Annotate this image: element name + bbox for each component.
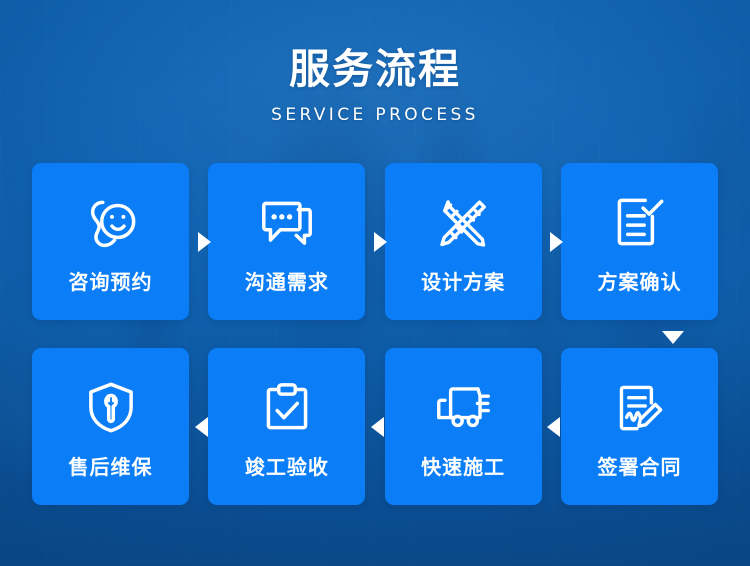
chat-bubbles-icon [251,189,323,255]
process-row-bottom: 售后维保 竣工验收 [32,348,718,505]
page-subtitle: SERVICE PROCESS [0,105,750,126]
clipboard-check-icon [251,374,323,440]
step-card-label: 方案确认 [597,269,681,295]
step-card-label: 快速施工 [421,454,505,480]
service-process-banner: 服务流程 SERVICE PROCESS 咨询预约 [0,0,750,566]
flow-arrow-right-icon [374,232,387,252]
step-card-label: 竣工验收 [245,454,329,480]
step-card-construction[interactable]: 快速施工 [385,348,542,505]
flow-arrow-down-wrapper [662,331,684,344]
step-card-label: 设计方案 [421,269,505,295]
flow-arrow-left-icon [195,417,208,437]
phone-smiley-icon [75,189,147,255]
step-card-label: 沟通需求 [245,269,329,295]
shield-wrench-icon [75,374,147,440]
delivery-truck-icon [427,374,499,440]
pencil-ruler-icon [427,189,499,255]
document-check-icon [603,189,675,255]
process-steps-grid: 咨询预约 沟通需求 [32,163,718,505]
step-card-consultation[interactable]: 咨询预约 [32,163,189,320]
page-title: 服务流程 [0,44,750,94]
flow-arrow-down-icon [662,331,684,344]
step-card-label: 咨询预约 [69,269,153,295]
step-card-communication[interactable]: 沟通需求 [208,163,365,320]
flow-arrow-left-icon [371,417,384,437]
step-card-aftersales[interactable]: 售后维保 [32,348,189,505]
step-card-design[interactable]: 设计方案 [385,163,542,320]
step-card-label: 签署合同 [597,454,681,480]
step-card-sign-contract[interactable]: 签署合同 [561,348,718,505]
flow-arrow-right-icon [550,232,563,252]
process-row-top: 咨询预约 沟通需求 [32,163,718,320]
flow-arrow-right-icon [198,232,211,252]
contract-signature-icon [603,374,675,440]
flow-arrow-left-icon [547,417,560,437]
step-card-acceptance[interactable]: 竣工验收 [208,348,365,505]
step-card-label: 售后维保 [69,454,153,480]
step-card-plan-confirm[interactable]: 方案确认 [561,163,718,320]
section-header: 服务流程 SERVICE PROCESS [0,44,750,126]
